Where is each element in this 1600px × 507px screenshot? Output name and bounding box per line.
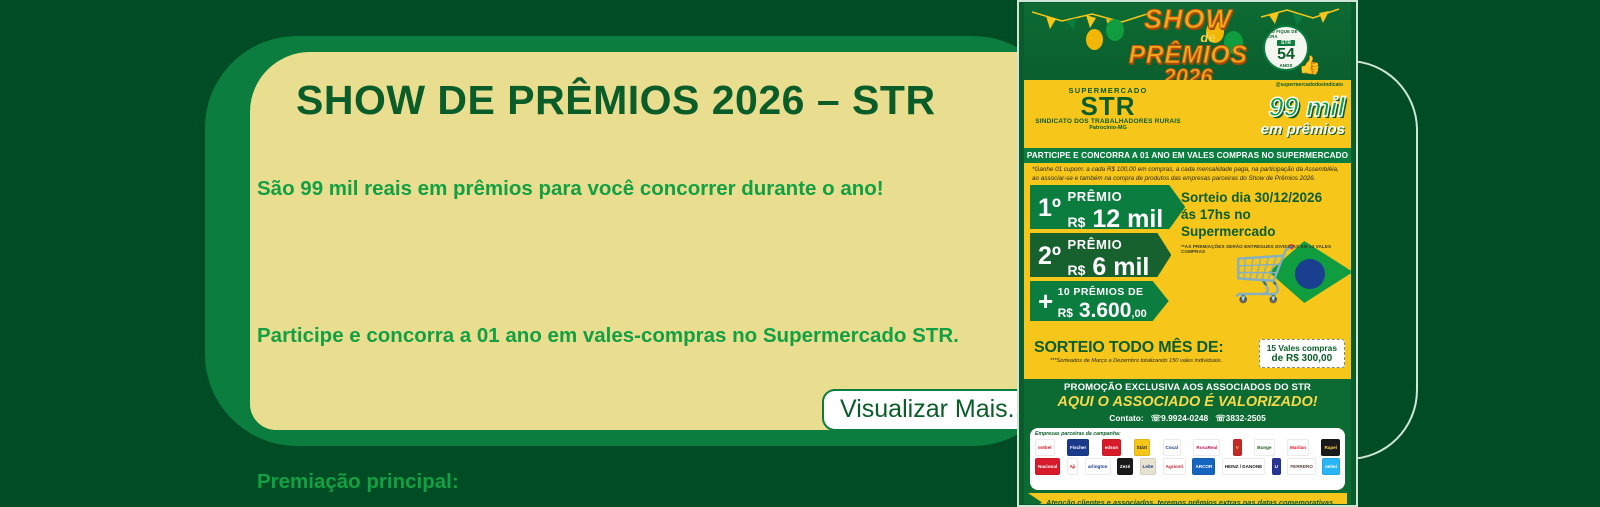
prize-amount-subtitle: em prêmios: [1261, 121, 1345, 138]
prize-row: + 10 PRÊMIOS DE R$ 3.600,00: [1030, 281, 1351, 321]
partner-logo: Leite: [1140, 458, 1157, 475]
coupon-fine-print: *Ganhe 01 cupom: a cada R$ 100,00 em com…: [1024, 163, 1351, 185]
seal-top-text: NÃO FIQUE DE FORA: [1265, 29, 1307, 39]
str-supermarket-logo: SUPERMERCADO STR SINDICATO DOS TRABALHAD…: [1034, 86, 1182, 131]
partner-logo: Zezé: [1117, 458, 1133, 475]
partner-logo: Stárt: [1134, 439, 1150, 456]
partner-logo: möbel: [1035, 439, 1055, 456]
prize-ordinal: +: [1038, 286, 1053, 316]
seal-bar-text: STR: [1277, 40, 1295, 46]
partner-logo: Nacional: [1035, 458, 1060, 475]
logo-line-show: SHOW: [1098, 7, 1278, 32]
prize-ordinal: 1º: [1038, 188, 1063, 228]
promo-spacer: [257, 251, 1047, 275]
partner-logo: Fischer: [1067, 439, 1089, 456]
voucher-ticket: 15 Vales compras de R$ 300,00: [1259, 339, 1345, 368]
prize-label: PRÊMIO: [1068, 237, 1123, 252]
show-de-premios-logo: SHOW de PRÊMIOS 2026: [1098, 7, 1278, 80]
contact-line: Contato: ☏9.9924-0248 ☏3832-2505: [1024, 413, 1351, 423]
draw-date-line: Sorteio dia 30/12/2026: [1181, 189, 1347, 206]
prize-amount: 99 mil: [1261, 92, 1345, 123]
promo-body-text: São 99 mil reais em prêmios para você co…: [257, 128, 1047, 507]
prize-text: 10 PRÊMIOS DE R$ 3.600,00: [1058, 282, 1147, 325]
prize-amount-text: 6 mil: [1092, 253, 1149, 281]
exclusive-promo-line2: AQUI O ASSOCIADO É VALORIZADO!: [1024, 393, 1351, 412]
visualizar-mais-button[interactable]: Visualizar Mais...: [822, 389, 1047, 431]
prize-highlight: 99 mil em prêmios: [1261, 92, 1345, 138]
participate-strip: PARTICIPE E CONCORRA A 01 ANO EM VALES C…: [1024, 148, 1351, 163]
partner-logo: HEINZ / DANONE: [1222, 458, 1266, 475]
str-name: STR: [1034, 95, 1182, 118]
partner-logo-row: NacionalAjiarlingtonZezéLeiteAgricotiARC…: [1035, 458, 1340, 475]
poster-header: SHOW de PRÊMIOS 2026 NÃO FIQUE DE FORA S…: [1024, 3, 1351, 80]
voucher-value: de R$ 300,00: [1267, 353, 1337, 364]
partner-logo: U: [1272, 458, 1281, 475]
draw-info: Sorteio dia 30/12/2026 ás 17hs no Superm…: [1181, 189, 1347, 254]
logo-line-year: 2026: [1098, 67, 1278, 80]
prize-label: PRÊMIO: [1068, 189, 1123, 204]
partner-logo: Marilan: [1287, 439, 1309, 456]
promo-line: Participe e concorra a 01 ano em vales-c…: [257, 324, 1047, 349]
contact-phone-1[interactable]: 9.9924-0248: [1161, 413, 1208, 423]
promo-line: Premiação principal:: [257, 470, 1047, 495]
prize-currency: R$: [1068, 214, 1086, 230]
exclusive-promo-section: PROMOÇÃO EXCLUSIVA AOS ASSOCIADOS DO STR…: [1024, 379, 1351, 425]
prize-label: 10 PRÊMIOS DE: [1058, 286, 1144, 298]
prize-value: R$ 6 mil: [1068, 253, 1150, 281]
prize-arrow-extra: + 10 PRÊMIOS DE R$ 3.600,00: [1030, 281, 1169, 321]
prize-text: PRÊMIO R$ 12 mil: [1068, 188, 1164, 235]
partner-logo: Rapel: [1321, 439, 1340, 456]
contact-label: Contato:: [1109, 413, 1143, 423]
contact-phone-2[interactable]: 3832-2505: [1226, 413, 1266, 423]
poster-brand-band: SUPERMERCADO STR SINDICATO DOS TRABALHAD…: [1024, 80, 1351, 148]
monthly-draw-section: SORTEIO TODO MÊS DE: ***Sorteados de Mar…: [1024, 335, 1351, 379]
partners-section: Empresas parceiras da campanha: möbelFis…: [1030, 428, 1345, 490]
partner-logo-row: möbelFischeredsonStártCocalRosaRealVBung…: [1035, 439, 1340, 456]
prize-cents: ,00: [1131, 308, 1146, 320]
whatsapp-icon: ☏: [1151, 413, 1161, 423]
partner-logo: RosaReal: [1193, 439, 1220, 456]
partner-logo: V: [1233, 439, 1242, 456]
seal-anos-text: ANOS: [1279, 63, 1292, 68]
str-city-label: Patrocínio-MG: [1034, 125, 1182, 131]
prize-amount-text: 3.600: [1079, 299, 1132, 322]
prize-ordinal: 2º: [1038, 236, 1063, 276]
partners-title: Empresas parceiras da campanha:: [1035, 431, 1340, 437]
partner-logo: FERRERO: [1287, 458, 1315, 475]
seal-number: 54: [1277, 47, 1295, 63]
prize-arrow-first: 1º PRÊMIO R$ 12 mil: [1030, 185, 1185, 229]
prize-currency: R$: [1058, 306, 1073, 320]
partner-logo: Aji: [1067, 458, 1079, 475]
promo-line: São 99 mil reais em prêmios para você co…: [257, 177, 1047, 202]
partner-logo: selmi: [1322, 458, 1340, 475]
partner-logo: Agricoti: [1163, 458, 1186, 475]
exclusive-promo-line1: PROMOÇÃO EXCLUSIVA AOS ASSOCIADOS DO STR: [1024, 382, 1351, 393]
draw-fine-print: **AS PREMIAÇÕES SERÃO ENTREGUES DIVIDIDA…: [1181, 244, 1347, 254]
prize-text: PRÊMIO R$ 6 mil: [1068, 236, 1150, 283]
prizes-section: 🛒 1º PRÊMIO R$ 12 mil 2º PRÊMIO R$ 6 mil: [1024, 185, 1351, 335]
draw-time-line: ás 17hs no Supermercado: [1181, 206, 1347, 240]
bottom-note-banner: Atenção clientes e associados, teremos p…: [1028, 493, 1347, 504]
page-title: SHOW DE PRÊMIOS 2026 – STR: [296, 77, 936, 124]
bottom-note-text: Atenção clientes e associados, teremos p…: [1028, 493, 1347, 504]
voucher-count: 15 Vales compras: [1267, 343, 1337, 353]
partner-logo: arlington: [1085, 458, 1111, 475]
partner-logo: ARCOR: [1192, 458, 1215, 475]
thumbs-up-icon: 👍: [1299, 55, 1321, 76]
promo-poster-image[interactable]: SHOW de PRÊMIOS 2026 NÃO FIQUE DE FORA S…: [1024, 3, 1351, 504]
poster-decorative-curve: [1348, 60, 1418, 460]
partner-logo: edson: [1102, 439, 1122, 456]
instagram-handle: @supermercadodosindicato: [1276, 82, 1343, 88]
prize-arrow-second: 2º PRÊMIO R$ 6 mil: [1030, 233, 1171, 277]
str-union-label: SINDICATO DOS TRABALHADORES RURAIS: [1034, 118, 1182, 125]
prize-value: R$ 3.600,00: [1058, 299, 1147, 322]
prize-value: R$ 12 mil: [1068, 205, 1164, 233]
whatsapp-icon: ☏: [1215, 413, 1225, 423]
partner-logo: Bunge: [1254, 439, 1274, 456]
partner-logo: Cocal: [1163, 439, 1182, 456]
prize-currency: R$: [1068, 262, 1086, 278]
prize-amount-text: 12 mil: [1092, 205, 1163, 233]
page-root: SHOW DE PRÊMIOS 2026 – STR São 99 mil re…: [0, 0, 1600, 507]
